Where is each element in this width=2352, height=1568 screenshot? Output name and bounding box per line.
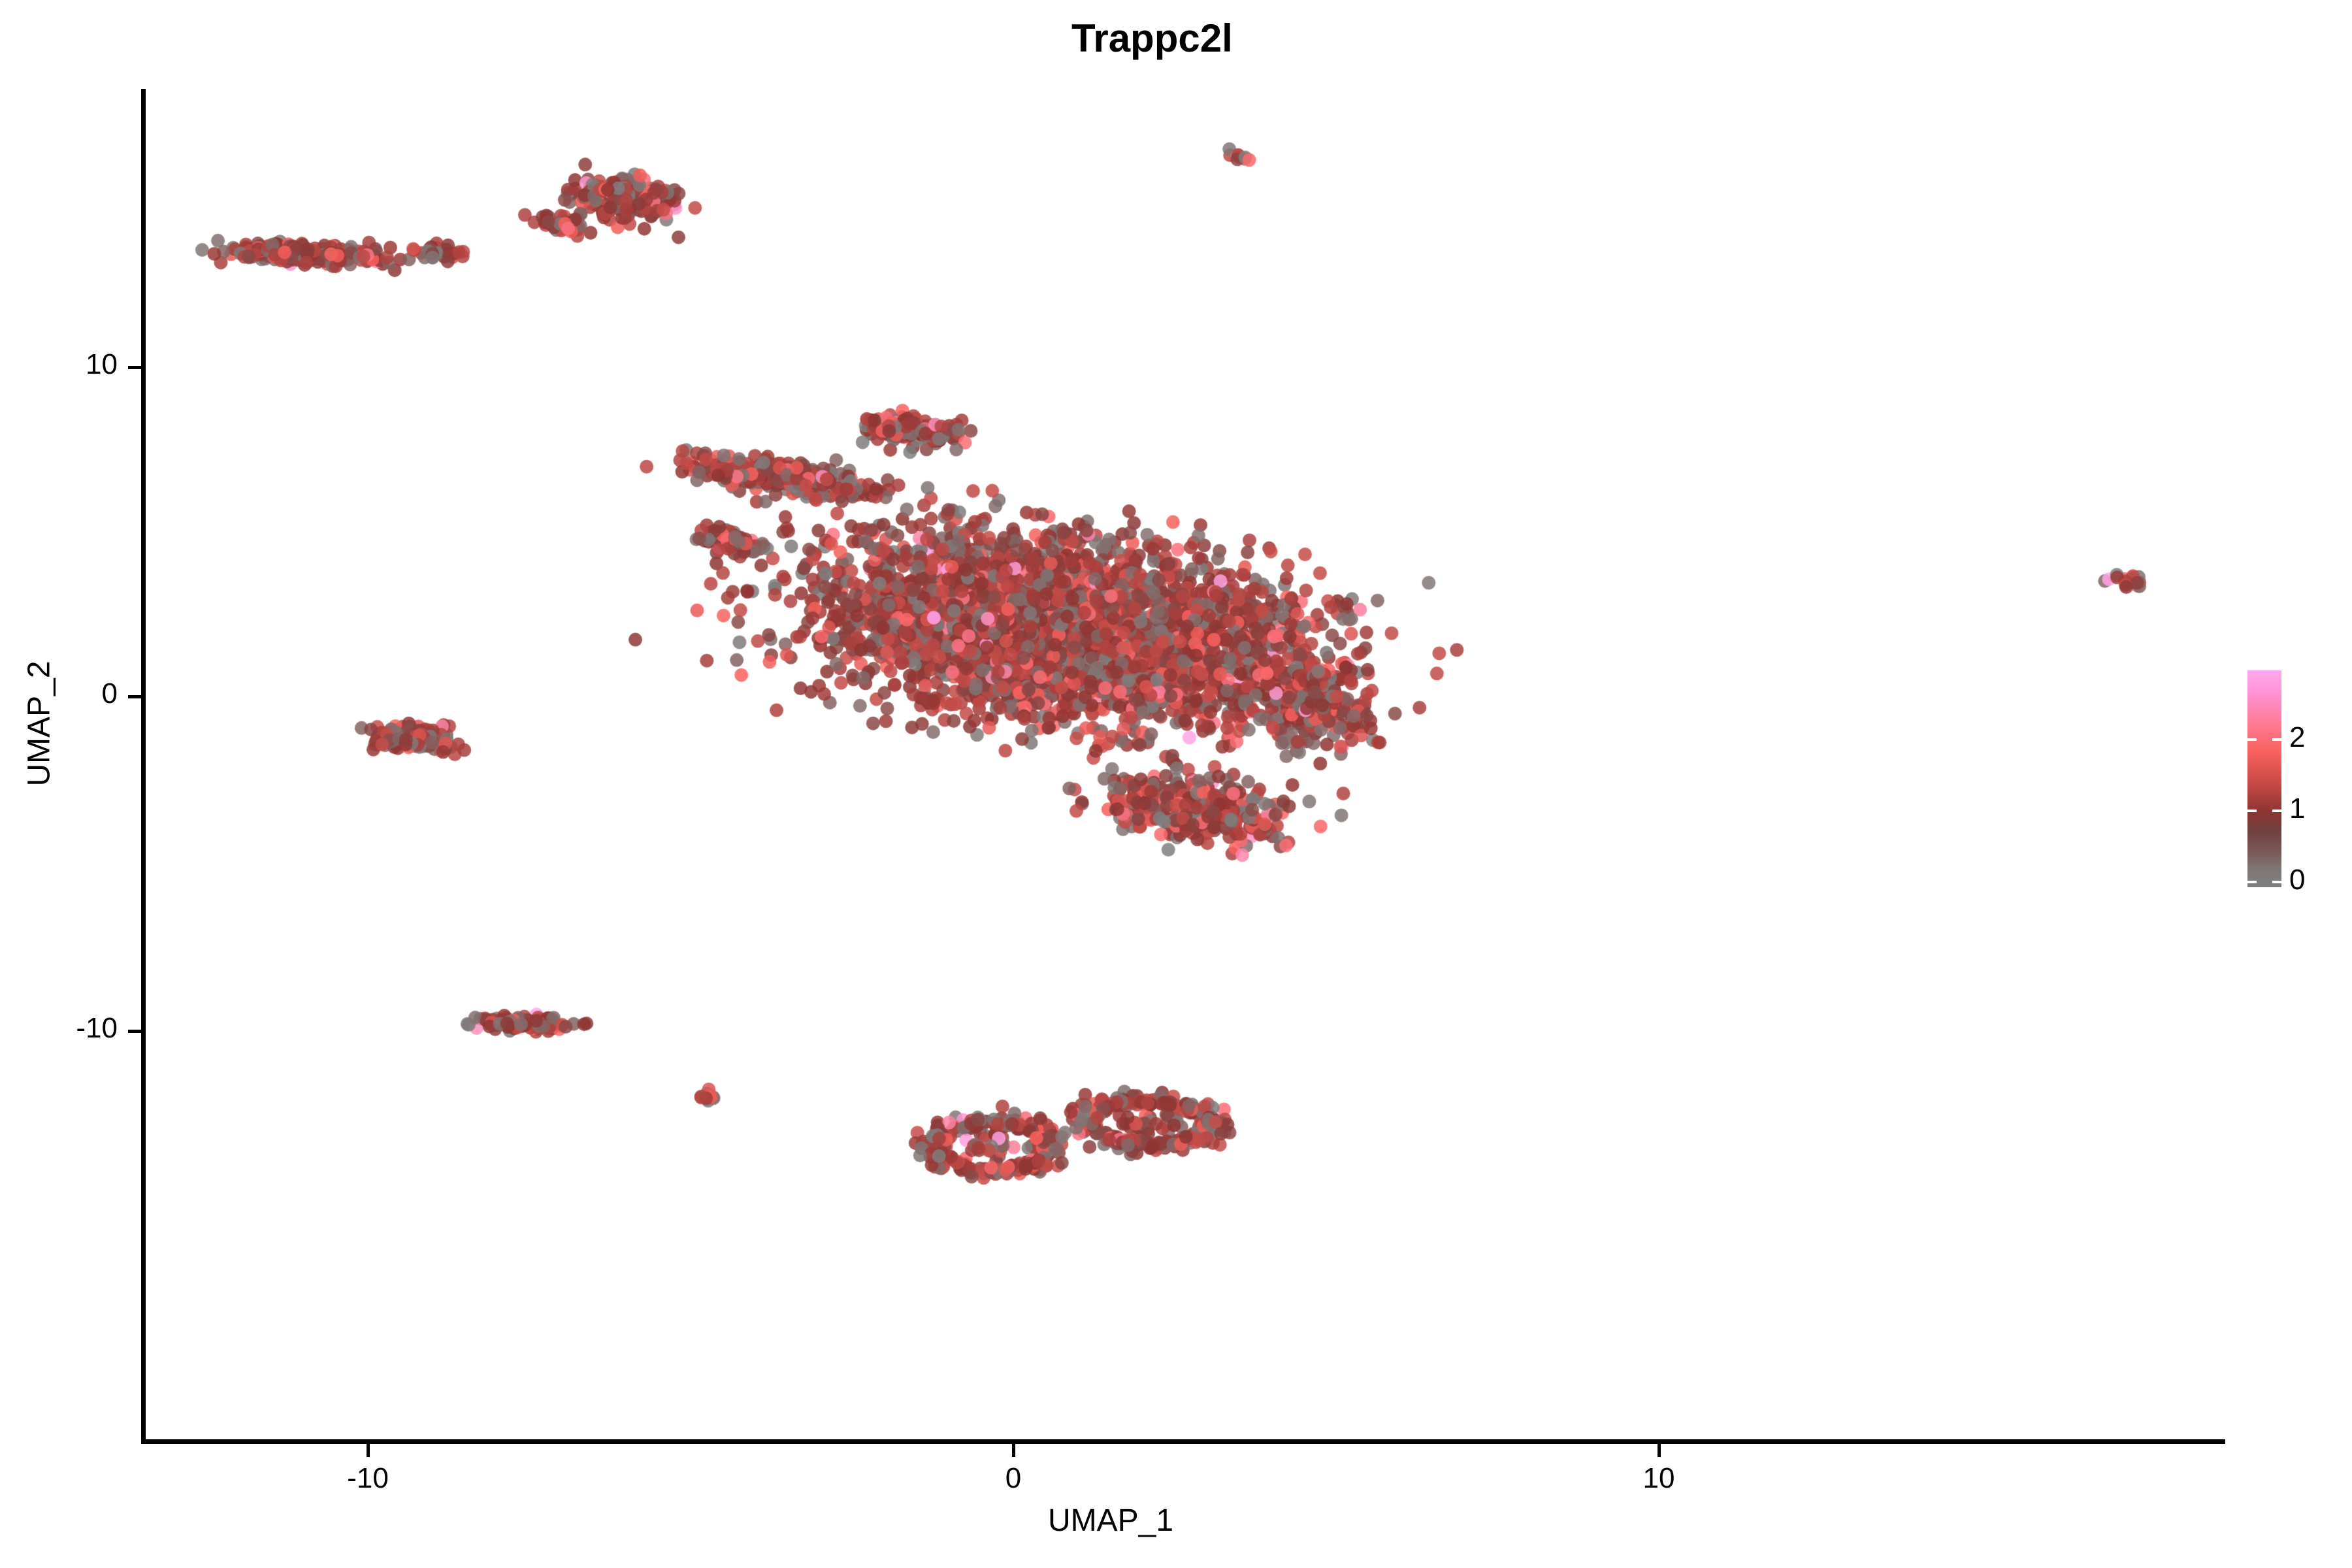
legend-tick-1-left [2247, 809, 2257, 812]
y-tick-mark-0 [128, 695, 141, 698]
legend-tick-2-left [2247, 738, 2257, 741]
y-axis-title: UMAP_2 [22, 593, 57, 855]
legend-label-1: 1 [2289, 792, 2335, 825]
x-tick-label-10: 10 [1607, 1462, 1711, 1495]
color-legend: 2 1 0 [2247, 670, 2345, 887]
y-tick-mark-10 [128, 366, 141, 369]
legend-tick-0-right [2272, 881, 2281, 883]
x-tick-label-0: 0 [961, 1462, 1066, 1495]
legend-tick-1-right [2272, 809, 2281, 812]
y-axis-line [141, 89, 146, 1444]
legend-tick-0-left [2247, 881, 2257, 883]
plot-panel [144, 91, 2222, 1441]
umap-feature-plot: Trappc2l 10 0 -10 -10 0 10 UMAP_1 UMAP_2… [0, 0, 2352, 1568]
legend-label-2: 2 [2289, 721, 2335, 754]
y-tick-label-10: 10 [39, 348, 118, 381]
scatter-canvas [144, 91, 2222, 1441]
y-tick-label-neg10: -10 [39, 1012, 118, 1045]
x-axis-line [141, 1439, 2225, 1444]
legend-colorbar [2247, 670, 2281, 887]
x-tick-mark-0 [1012, 1444, 1015, 1457]
y-tick-mark-neg10 [128, 1030, 141, 1033]
page-title: Trappc2l [1071, 16, 1855, 61]
x-axis-title: UMAP_1 [954, 1503, 1267, 1539]
x-tick-mark-neg10 [367, 1444, 370, 1457]
legend-tick-2-right [2272, 738, 2281, 741]
x-tick-mark-10 [1658, 1444, 1661, 1457]
x-tick-label-neg10: -10 [316, 1462, 420, 1495]
legend-label-0: 0 [2289, 864, 2335, 896]
